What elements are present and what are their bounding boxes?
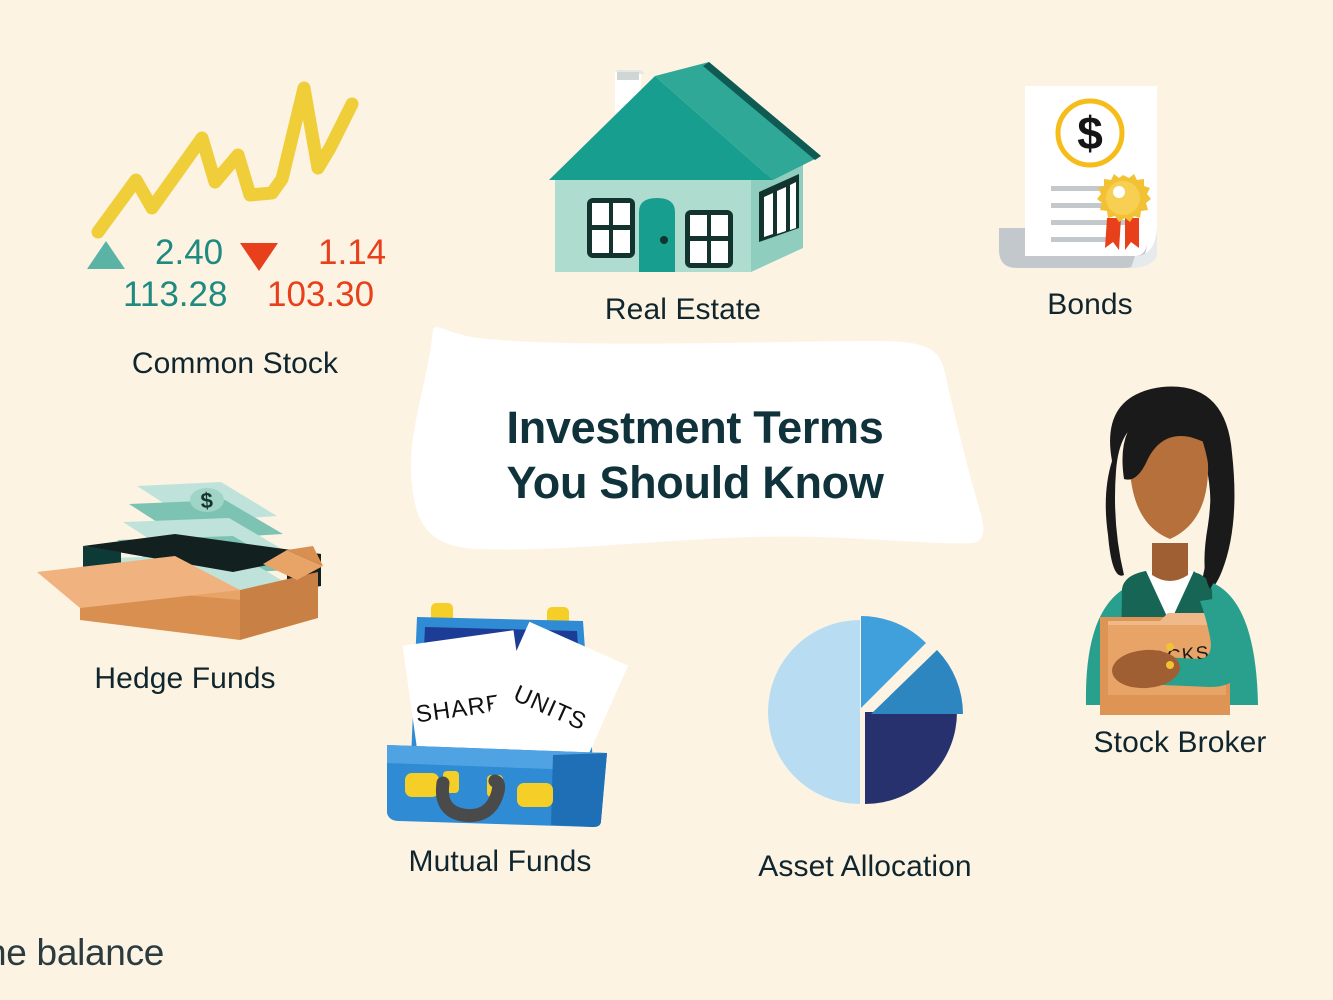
ticker-up-change: 2.40 bbox=[155, 233, 223, 273]
pie-chart-icon bbox=[765, 612, 965, 812]
ticker-down-group bbox=[238, 240, 280, 274]
ticker-down-price: 103.30 bbox=[267, 275, 374, 315]
label-hedge-funds: Hedge Funds bbox=[10, 662, 360, 696]
infographic-canvas: 2.40 113.28 1.14 103.30 Common Stock bbox=[0, 0, 1333, 1000]
ticker-up-price: 113.28 bbox=[123, 275, 227, 315]
common-stock-illustration bbox=[90, 80, 380, 240]
asset-allocation-illustration bbox=[765, 612, 965, 812]
real-estate-illustration bbox=[533, 60, 833, 290]
stock-line-chart-icon bbox=[90, 80, 380, 240]
brand-logo[interactable]: he balance bbox=[0, 932, 164, 974]
bond-certificate-icon: $ bbox=[995, 78, 1185, 273]
ticker-up-group bbox=[85, 238, 127, 272]
cash-box-icon: $ bbox=[25, 468, 325, 648]
label-mutual-funds: Mutual Funds bbox=[330, 845, 670, 879]
up-triangle-icon bbox=[85, 238, 127, 272]
broker-person-icon: STOCKS bbox=[1050, 375, 1290, 705]
svg-text:$: $ bbox=[200, 488, 214, 514]
mutual-funds-illustration: SHARES UNITS bbox=[365, 595, 640, 835]
hedge-funds-illustration: $ bbox=[25, 468, 325, 648]
page-title: Investment Terms You Should Know bbox=[400, 400, 990, 510]
label-stock-broker: Stock Broker bbox=[1030, 726, 1330, 760]
bonds-illustration: $ bbox=[995, 78, 1185, 273]
label-asset-allocation: Asset Allocation bbox=[700, 850, 1030, 884]
svg-text:$: $ bbox=[1077, 107, 1103, 159]
ticker-down-change: 1.14 bbox=[318, 233, 386, 273]
stock-broker-illustration: STOCKS bbox=[1050, 375, 1290, 705]
down-triangle-icon bbox=[238, 240, 280, 274]
house-icon bbox=[533, 60, 833, 290]
briefcase-icon: SHARES UNITS bbox=[365, 595, 640, 835]
label-bonds: Bonds bbox=[960, 288, 1220, 322]
